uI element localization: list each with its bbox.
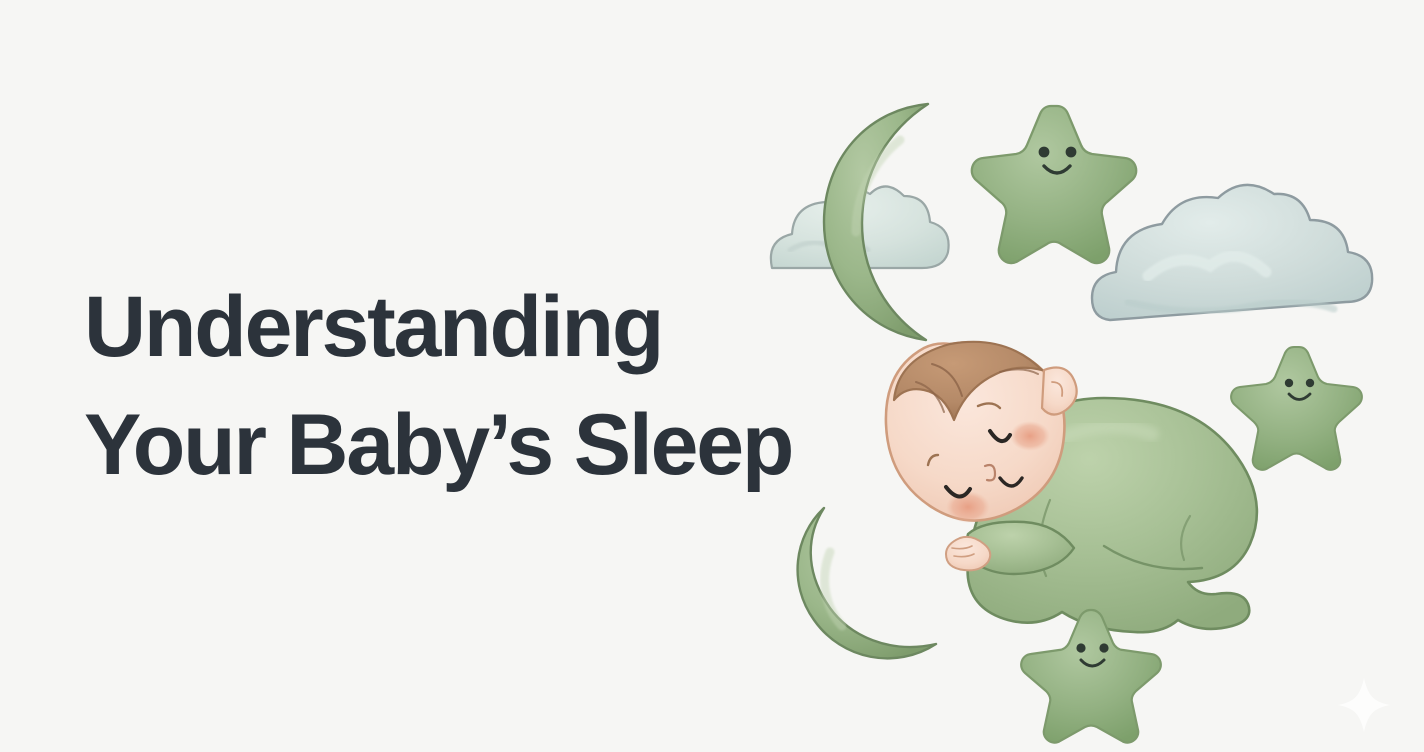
star-bottom-icon <box>1021 610 1161 743</box>
page-title: Understanding Your Baby’s Sleep <box>84 268 844 504</box>
corner-sparkle-icon <box>1338 678 1390 732</box>
star-bottom-smile <box>1081 660 1104 666</box>
star-top-smile <box>1044 166 1070 173</box>
baby-brow-upper <box>978 403 1000 408</box>
cloud-small-top-left-icon <box>771 186 949 268</box>
star-right-eye-right <box>1306 379 1314 387</box>
cloud-large-right-icon <box>1092 185 1372 320</box>
baby-blush-lower <box>946 491 990 523</box>
page-title-line-2: Your Baby’s Sleep <box>84 386 844 504</box>
baby-brow-lower <box>928 455 938 465</box>
hero-banner: Understanding Your Baby’s Sleep <box>0 0 1424 752</box>
star-right-smile <box>1289 394 1310 400</box>
baby-blush-upper <box>1010 421 1050 451</box>
baby-ear <box>1042 368 1077 415</box>
star-top-icon <box>972 106 1136 263</box>
baby-hand <box>946 537 990 570</box>
baby-hair <box>894 342 1042 420</box>
baby-mouth <box>1000 478 1022 486</box>
baby-nose <box>985 465 995 480</box>
baby-head <box>886 342 1065 520</box>
page-title-line-1: Understanding <box>84 268 844 386</box>
star-top-eye-left <box>1039 147 1050 158</box>
sleeping-baby-figure <box>886 342 1257 632</box>
crescent-moon-bottom-icon <box>798 508 936 658</box>
baby-arm <box>967 522 1075 574</box>
baby-eye-upper-closed <box>990 431 1010 441</box>
star-bottom-eye-left <box>1076 643 1085 652</box>
star-right-small-icon <box>1231 347 1362 470</box>
star-bottom-eye-right <box>1099 643 1108 652</box>
baby-onesie <box>968 398 1257 632</box>
star-top-eye-right <box>1066 147 1077 158</box>
star-right-eye-left <box>1285 379 1293 387</box>
baby-eye-lower-closed <box>946 487 970 497</box>
